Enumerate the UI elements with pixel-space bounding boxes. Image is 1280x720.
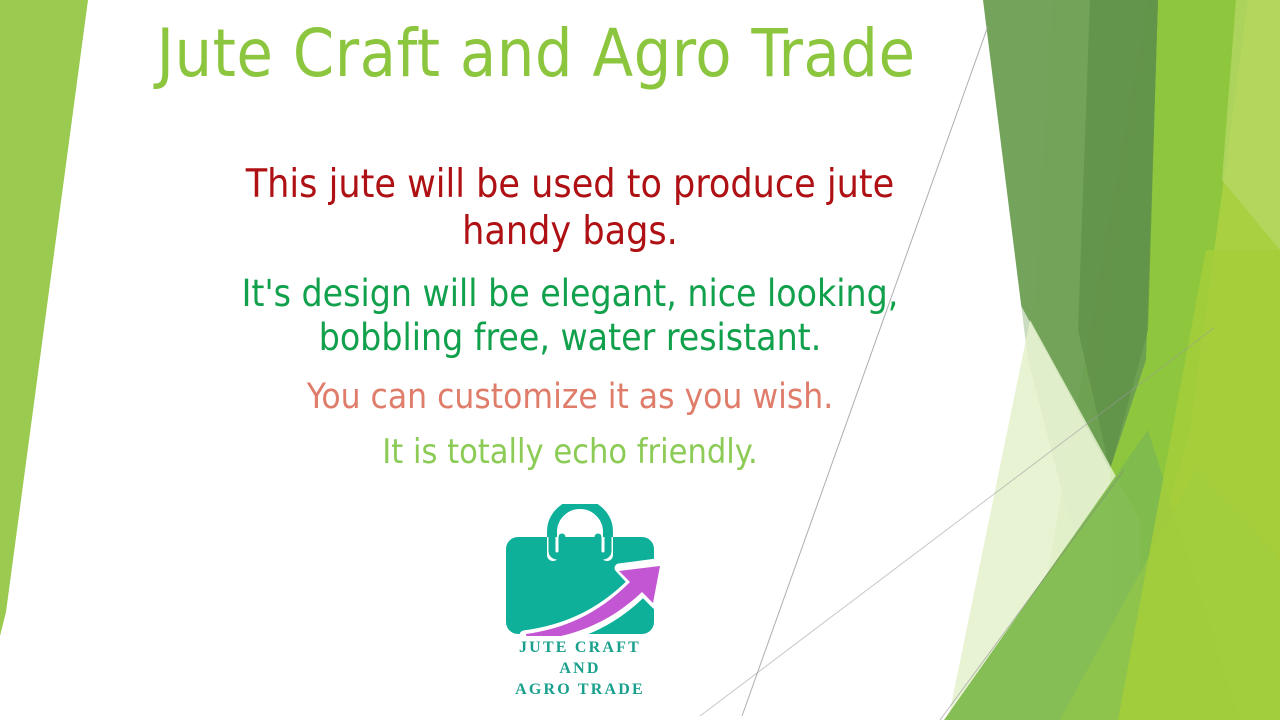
slide-title: Jute Craft and Agro Trade — [96, 18, 976, 89]
company-logo: JUTE CRAFT AND AGRO TRADE — [480, 504, 680, 710]
shopping-bag-icon — [480, 504, 680, 636]
body-line-4: It is totally echo friendly. — [160, 432, 980, 473]
body-line-3: You can customize it as you wish. — [160, 376, 980, 418]
logo-wordmark-line-1: JUTE CRAFT — [480, 638, 680, 657]
presentation-slide: Jute Craft and Agro Trade This jute will… — [0, 0, 1280, 720]
slide-content: Jute Craft and Agro Trade This jute will… — [0, 0, 1280, 720]
logo-wordmark-line-2: AND — [480, 659, 680, 678]
body-line-2: It's design will be elegant, nice lookin… — [160, 272, 980, 361]
body-line-1: This jute will be used to produce jute h… — [160, 162, 980, 256]
slide-body-text: This jute will be used to produce jute h… — [160, 162, 980, 481]
logo-wordmark-line-3: AGRO TRADE — [480, 680, 680, 699]
